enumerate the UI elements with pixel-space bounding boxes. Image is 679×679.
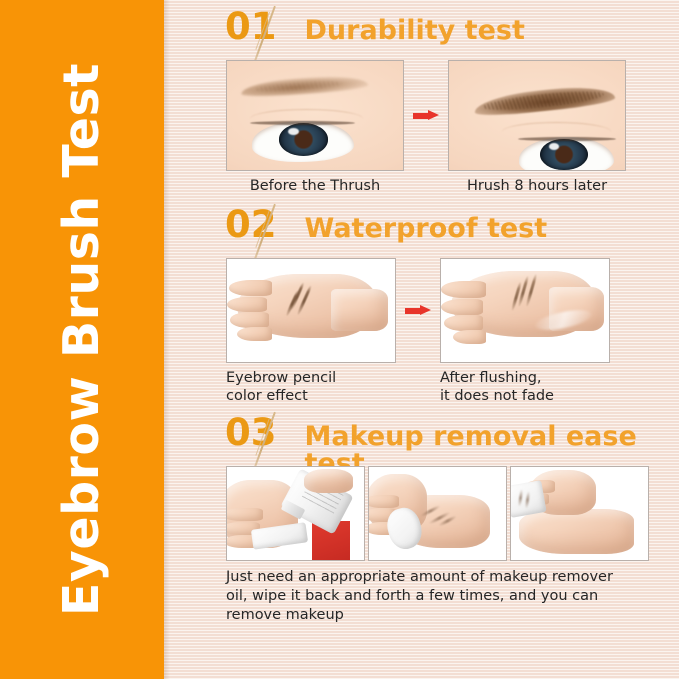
hand-swatch-dry-photo [226,258,396,363]
section-03-heading: 03 Makeup removal ease test [170,414,679,466]
vertical-title-banner: Eyebrow Brush Test [0,0,164,679]
caption-wet-line2: it does not fade [440,387,610,406]
content-column: 01 Durability test [170,0,679,679]
eye-before-photo [226,60,404,171]
caption-eye-after: Hrush 8 hours later [448,177,626,196]
hand-swatch-wet-photo [440,258,610,363]
section-02-heading: 02 Waterproof test [170,206,679,258]
eye-after-photo [448,60,626,171]
caption-dry-line1: Eyebrow pencil [226,369,396,388]
section-durability-test: 01 Durability test [170,0,679,196]
section-03-photo-row [170,466,679,561]
wipe-hand-photo [368,466,507,561]
section-02-captions: Eyebrow pencil color effect After flushi… [170,369,679,406]
section-01-photo-row [170,60,679,171]
infographic-page: Eyebrow Brush Test 01 Durability test [0,0,679,679]
section-waterproof-test: 02 Waterproof test [170,196,679,406]
right-arrow-icon [405,305,431,316]
section-03-description: Just need an appropriate amount of makeu… [170,568,679,626]
section-01-heading: 01 Durability test [170,8,679,60]
description-line-1: Just need an appropriate amount of makeu… [226,568,667,587]
section-01-title: Durability test [305,17,525,44]
section-02-title: Waterproof test [305,215,548,242]
banner-title: Eyebrow Brush Test [54,63,111,616]
caption-wet-line1: After flushing, [440,369,610,388]
section-01-captions: Before the Thrush Hrush 8 hours later [170,177,679,196]
right-arrow-icon [413,110,439,121]
section-makeup-removal-test: 03 Makeup removal ease test [170,406,679,626]
section-02-photo-row [170,258,679,363]
description-line-3: remove makeup [226,606,667,625]
caption-eye-before: Before the Thrush [226,177,404,196]
clean-hand-photo [510,466,649,561]
arrow-cell-02 [396,305,440,316]
caption-dry-line2: color effect [226,387,396,406]
arrow-cell-01 [404,110,448,121]
description-line-2: oil, wipe it back and forth a few times,… [226,587,667,606]
pour-remover-photo [226,466,365,561]
